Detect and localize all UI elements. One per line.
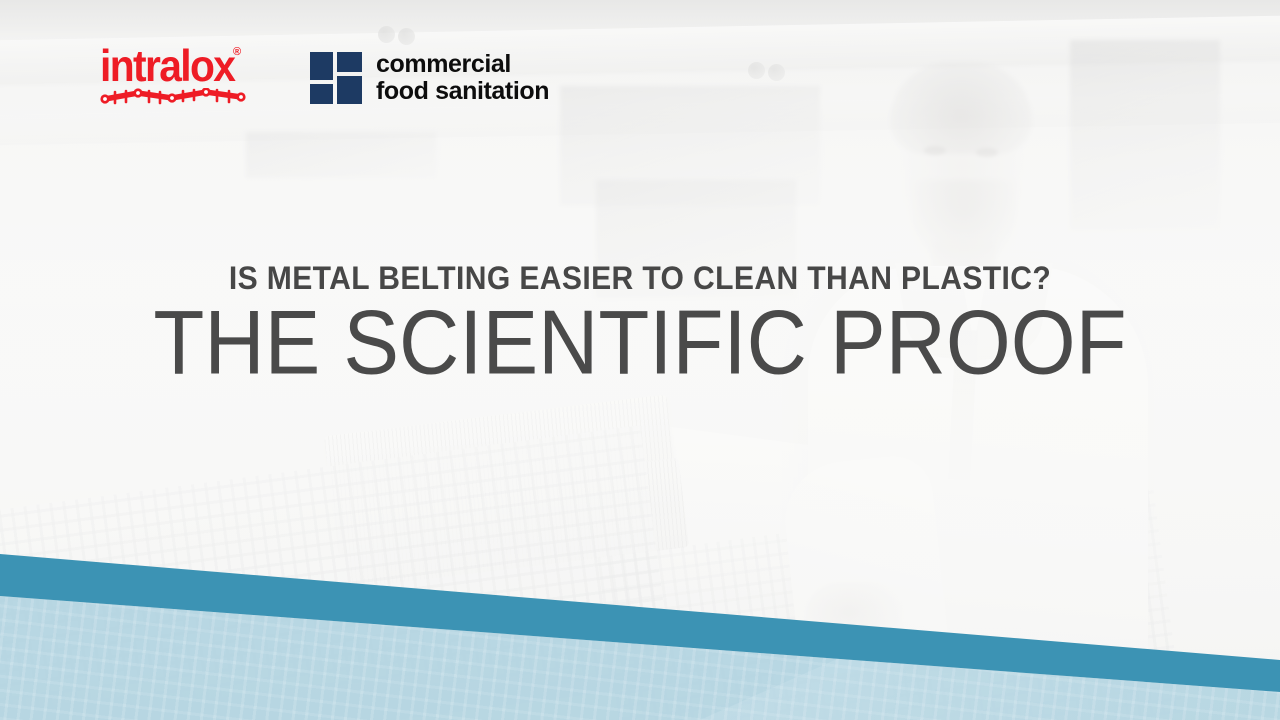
intralox-logo[interactable]: intralox ® [100,44,250,112]
grid-square-top-left [310,52,333,80]
cfs-wordmark: commercial food sanitation [376,51,549,105]
slide-eyebrow-question: IS METAL BELTING EASIER TO CLEAN THAN PL… [38,262,1241,296]
logo-lockup: intralox ® [100,44,549,112]
grid-square-bottom-right [337,76,362,104]
cfs-wordmark-line2: food sanitation [376,78,549,105]
four-square-grid-icon [310,52,362,104]
conveyor-chain-icon [100,88,246,106]
page-title: THE SCIENTIFIC PROOF [19,297,1261,388]
intralox-wordmark: intralox [100,44,234,89]
cfs-wordmark-line1: commercial [376,51,549,78]
grid-square-top-right [337,52,362,72]
commercial-food-sanitation-logo[interactable]: commercial food sanitation [310,51,549,105]
title-slide: intralox ® [0,0,1280,720]
headline-block: IS METAL BELTING EASIER TO CLEAN THAN PL… [0,262,1280,386]
grid-square-bottom-left [310,84,333,104]
registered-trademark-icon: ® [233,46,241,58]
